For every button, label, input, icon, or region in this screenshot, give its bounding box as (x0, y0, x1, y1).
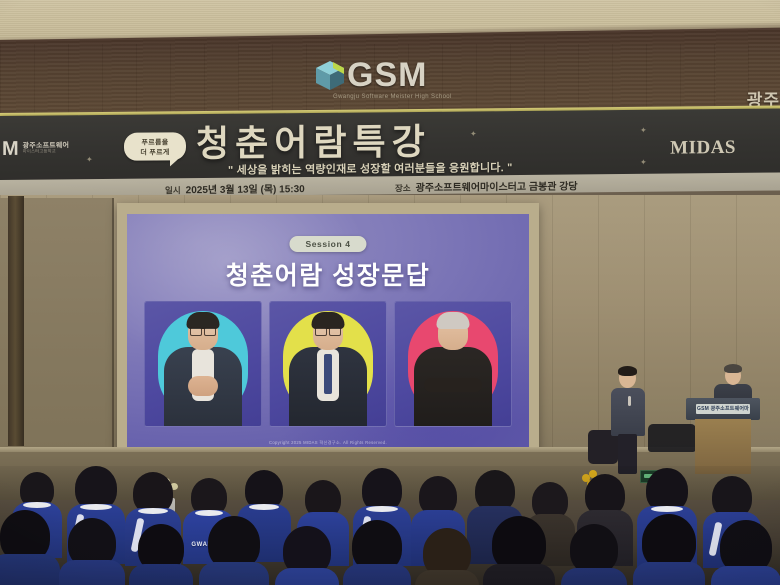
student-jacket (59, 560, 125, 585)
student-jacket (483, 564, 555, 585)
school-logo-mark: M (2, 139, 19, 159)
speaker-2-tie (324, 354, 332, 394)
student-collar (138, 508, 168, 514)
list-item (418, 528, 476, 585)
student-jacket (129, 564, 193, 585)
student-jacket (275, 568, 339, 585)
student-jacket (199, 562, 269, 585)
student-jacket (0, 554, 60, 585)
speaker-1-hands (188, 376, 218, 396)
list-item (62, 518, 122, 585)
list-item (132, 524, 190, 585)
student-collar (80, 504, 112, 510)
mic-speaker-hair (618, 366, 637, 376)
student-jacket (415, 570, 479, 585)
bubble-line-2: 더 푸르게 (124, 147, 186, 158)
microphone-icon (628, 396, 631, 406)
speaker-1-glasses-icon (190, 327, 216, 334)
student-collar (651, 506, 683, 512)
speaker-2-glasses-icon (315, 327, 341, 334)
list-item (278, 526, 336, 585)
midas-sponsor-logo: MIDAS (670, 137, 736, 160)
slide-copyright: Copyright 2025 MIDAS 혁신경구소. All Rights R… (127, 440, 529, 446)
presentation-slide: Session 4 청춘어람 성장문답 (127, 214, 529, 454)
sparkle-icon: ✦ (86, 155, 93, 164)
wall-pillar (8, 196, 24, 446)
speaker-card-1 (144, 301, 262, 427)
student-collar (23, 502, 51, 508)
list-item (564, 524, 624, 585)
event-banner: M 광주소프트웨어 마이스터고등학교 푸르름을 더 푸르게 청춘어람특강 " 세… (0, 109, 780, 182)
bubble-line-1: 푸르름을 (124, 137, 186, 148)
banner-speech-bubble: 푸르름을 더 푸르게 (124, 132, 186, 161)
banner-date-group: 일시 2025년 3월 13일 (목) 15:30 (165, 180, 305, 196)
banner-place-group: 장소 광주소프트웨어마이스터고 금봉관 강당 (395, 177, 578, 194)
list-item (202, 516, 266, 585)
session-badge: Session 4 (289, 236, 366, 252)
podium-top: GSM 광주소프트웨어마이스터고 (686, 398, 760, 420)
slide-title: 청춘어람 성장문답 (127, 256, 529, 292)
student-jacket (711, 566, 780, 585)
speaker-3-hair (437, 312, 470, 329)
date-value: 2025년 3월 13일 (목) 15:30 (186, 180, 305, 196)
sparkle-icon: ✦ (640, 158, 647, 167)
podium: GSM 광주소프트웨어마이스터고 (686, 398, 760, 474)
speaker-card-2 (269, 301, 387, 427)
student-head (570, 524, 618, 574)
place-label: 장소 (395, 182, 411, 194)
sparkle-icon: ✦ (470, 129, 477, 138)
gsm-wall-logo: GSM Gwangju Software Meister High School (313, 57, 441, 105)
speaker-card-list (144, 301, 512, 425)
sparkle-icon: ✦ (640, 126, 647, 135)
audience: GWANGJU GWANGJU GWANGJU (0, 466, 780, 585)
list-item (486, 516, 552, 585)
gsm-subtitle: Gwangju Software Meister High School (333, 94, 452, 100)
banner-school-logo: M 광주소프트웨어 마이스터고등학교 (2, 138, 69, 159)
banner-title: 청춘어람특강 (196, 122, 431, 164)
speaker-with-microphone (606, 366, 650, 470)
moderator-hair (724, 364, 742, 373)
gsm-cube-icon (313, 59, 347, 93)
list-item (636, 514, 702, 585)
gsm-wordmark: GSM (347, 57, 427, 93)
list-item (0, 510, 56, 585)
student-jacket (343, 564, 411, 585)
student-collar (366, 506, 398, 512)
projection-screen: Session 4 청춘어람 성장문답 (117, 203, 539, 465)
podium-gsm-sign: GSM 광주소프트웨어마이스터고 (696, 404, 750, 414)
list-item (346, 520, 408, 585)
student-jacket (561, 568, 627, 585)
lecture-hall-photo: GSM Gwangju Software Meister High School… (0, 0, 780, 585)
student-jacket (633, 562, 705, 585)
student-collar (249, 504, 279, 510)
place-value: 광주소프트웨어마이스터고 금봉관 강당 (416, 177, 578, 194)
list-item: GWANGJU (714, 520, 778, 585)
school-logo-line2: 마이스터고등학교 (23, 150, 69, 155)
speaker-card-3 (394, 301, 512, 427)
speaker-3-crossed-arms (424, 378, 482, 392)
